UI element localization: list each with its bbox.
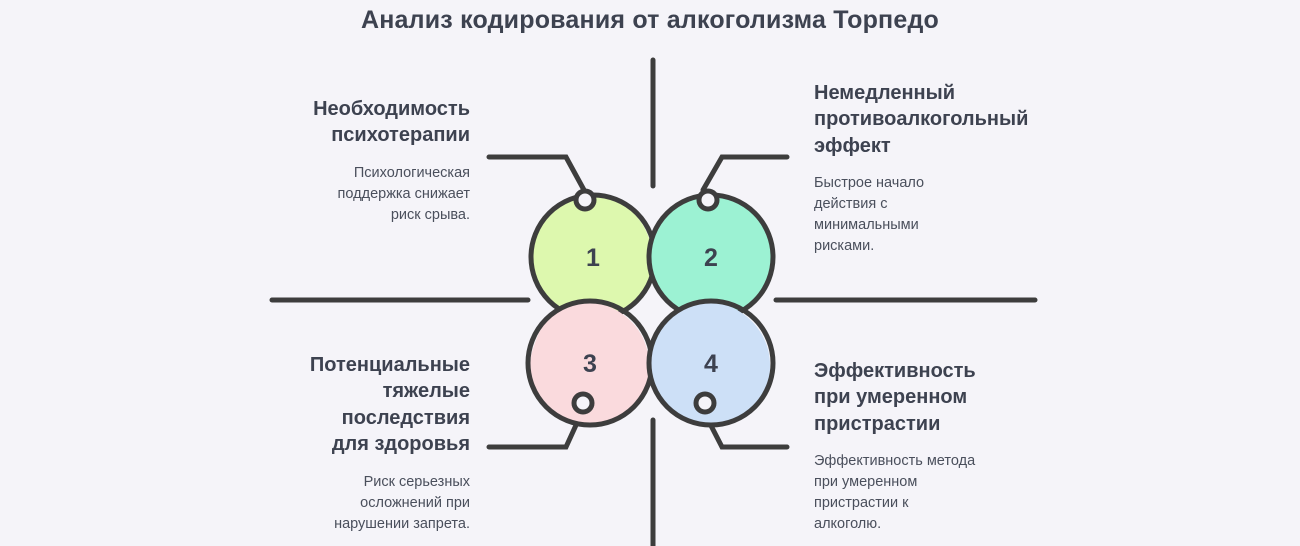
circle-number-2: 2 — [704, 244, 718, 272]
circle-connector-ring-1 — [576, 191, 594, 209]
quadrant-circle-diagram: 1 2 3 — [0, 0, 1300, 546]
callout-heading-4: Эффективность при умеренном пристрастии — [814, 358, 1064, 437]
callout-block-4: Эффективность при умеренном пристрастии … — [814, 358, 1064, 535]
circle-connector-ring-3 — [574, 394, 592, 412]
callout-body-1: Психологическая поддержка снижает риск с… — [246, 163, 470, 226]
circle-number-1: 1 — [586, 244, 600, 272]
infographic-canvas: Анализ кодирования от алкоголизма Торпед… — [0, 0, 1300, 546]
callout-body-2: Быстрое начало действия с минимальными р… — [814, 173, 1070, 257]
leader-line-2 — [703, 157, 787, 190]
circle-connector-ring-4 — [696, 394, 714, 412]
callout-heading-1: Необходимость психотерапии — [246, 96, 470, 149]
circle-number-3: 3 — [583, 350, 597, 378]
circle-number-4: 4 — [704, 350, 718, 378]
callout-block-1: Необходимость психотерапии Психологическ… — [246, 96, 470, 226]
circle-node-3[interactable]: 3 — [528, 301, 652, 425]
circle-connector-ring-2 — [699, 191, 717, 209]
leader-line-1 — [489, 157, 584, 190]
callout-heading-3: Потенциальные тяжелые последствия для зд… — [246, 352, 470, 458]
callout-body-3: Риск серьезных осложнений при нарушении … — [246, 472, 470, 535]
callout-heading-2: Немедленный противоалкогольный эффект — [814, 80, 1070, 159]
callout-block-3: Потенциальные тяжелые последствия для зд… — [246, 352, 470, 535]
callout-body-4: Эффективность метода при умеренном прист… — [814, 451, 1064, 535]
circle-node-4[interactable]: 4 — [648, 301, 773, 426]
callout-block-2: Немедленный противоалкогольный эффект Бы… — [814, 80, 1070, 257]
